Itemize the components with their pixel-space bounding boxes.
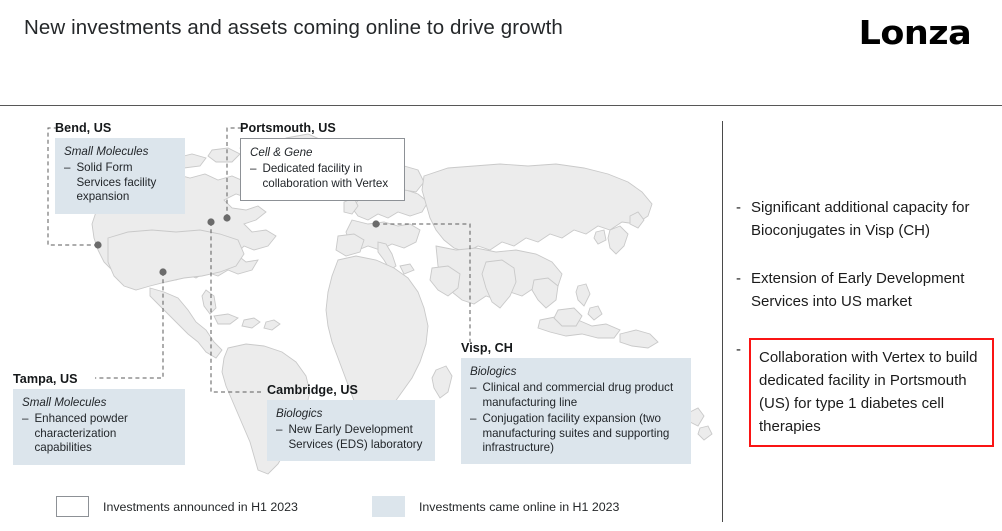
callout-location-bend: Bend, US (55, 121, 185, 135)
callout-bullet: – New Early Development Services (EDS) l… (276, 423, 426, 452)
highlight-text-1: Significant additional capacity for Bioc… (751, 196, 994, 242)
marker-tampa (159, 268, 166, 275)
legend-label-announced: Investments announced in H1 2023 (103, 500, 298, 514)
callout-tampa[interactable]: Tampa, US Small Molecules – Enhanced pow… (13, 372, 185, 465)
callout-category-cambridge: Biologics (276, 407, 426, 421)
highlight-item-1: - Significant additional capacity for Bi… (736, 196, 994, 242)
callout-body-cambridge: Biologics – New Early Development Servic… (267, 400, 435, 461)
key-highlights-list: - Significant additional capacity for Bi… (736, 196, 994, 447)
bullet-text: New Early Development Services (EDS) lab… (288, 423, 426, 452)
callout-body-tampa: Small Molecules – Enhanced powder charac… (13, 389, 185, 465)
callout-portsmouth[interactable]: Portsmouth, US Cell & Gene – Dedicated f… (240, 121, 405, 201)
marker-portsmouth (223, 214, 230, 221)
marker-bend (94, 241, 101, 248)
callout-visp[interactable]: Visp, CH Biologics – Clinical and commer… (461, 341, 691, 464)
marker-visp (372, 220, 379, 227)
callout-location-cambridge: Cambridge, US (267, 383, 435, 397)
callout-bullet: – Conjugation facility expansion (two ma… (470, 412, 682, 455)
marker-cambridge (207, 218, 214, 225)
callout-body-visp: Biologics – Clinical and commercial drug… (461, 358, 691, 464)
highlight-dash-icon: - (736, 338, 741, 447)
highlight-text-2: Extension of Early Development Services … (751, 267, 994, 313)
legend-swatch-online (372, 496, 405, 517)
bullet-text: Enhanced powder characterization capabil… (34, 412, 176, 455)
legend-swatch-announced (56, 496, 89, 517)
slide-root: New investments and assets coming online… (0, 0, 1002, 531)
callout-body-bend: Small Molecules – Solid Form Services fa… (55, 138, 185, 214)
bullet-text: Dedicated facility in collaboration with… (262, 162, 395, 191)
bullet-text: Clinical and commercial drug product man… (482, 381, 682, 410)
bullet-dash-icon: – (276, 423, 282, 452)
lonza-logo: Lonza (858, 13, 971, 52)
bullet-dash-icon: – (250, 162, 256, 191)
map-legend: Investments announced in H1 2023 Investm… (56, 496, 619, 517)
callout-bullet: – Solid Form Services facility expansion (64, 161, 176, 204)
callout-bullet: – Enhanced powder characterization capab… (22, 412, 176, 455)
callout-bullet: – Dedicated facility in collaboration wi… (250, 162, 395, 191)
bullet-text: Conjugation facility expansion (two manu… (482, 412, 682, 455)
bullet-dash-icon: – (470, 381, 476, 410)
page-title: New investments and assets coming online… (24, 16, 563, 40)
callout-category-visp: Biologics (470, 365, 682, 379)
callout-location-tampa: Tampa, US (13, 372, 185, 386)
highlight-dash-icon: - (736, 267, 741, 313)
callout-bullet: – Clinical and commercial drug product m… (470, 381, 682, 410)
callout-category-bend: Small Molecules (64, 145, 176, 159)
highlight-item-2: - Extension of Early Development Service… (736, 267, 994, 313)
callout-location-portsmouth: Portsmouth, US (240, 121, 405, 135)
content-vertical-divider (722, 121, 723, 522)
bullet-dash-icon: – (22, 412, 28, 455)
bullet-dash-icon: – (470, 412, 476, 455)
header-divider (0, 105, 1002, 106)
callout-bend[interactable]: Bend, US Small Molecules – Solid Form Se… (55, 121, 185, 214)
legend-label-online: Investments came online in H1 2023 (419, 500, 619, 514)
callout-category-tampa: Small Molecules (22, 396, 176, 410)
bullet-text: Solid Form Services facility expansion (76, 161, 176, 204)
callout-cambridge[interactable]: Cambridge, US Biologics – New Early Deve… (267, 383, 435, 461)
bullet-dash-icon: – (64, 161, 70, 204)
callout-body-portsmouth: Cell & Gene – Dedicated facility in coll… (240, 138, 405, 201)
callout-location-visp: Visp, CH (461, 341, 691, 355)
highlight-text-3: Collaboration with Vertex to build dedic… (759, 349, 977, 435)
callout-category-portsmouth: Cell & Gene (250, 146, 395, 160)
red-highlight-box: Collaboration with Vertex to build dedic… (749, 338, 994, 447)
highlight-item-3[interactable]: - Collaboration with Vertex to build ded… (736, 338, 994, 447)
highlight-dash-icon: - (736, 196, 741, 242)
